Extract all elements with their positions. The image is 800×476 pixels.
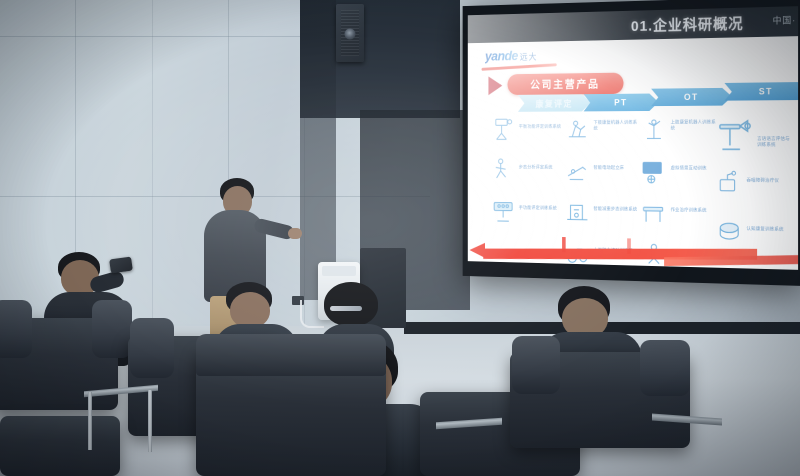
wall-speaker-icon bbox=[336, 4, 364, 62]
upper-limb-robot-icon bbox=[640, 115, 668, 144]
hand-function-icon bbox=[490, 196, 516, 225]
product-caption: 手功能评定训练系统 bbox=[519, 205, 562, 211]
projection-screen: 01.企业科研概况 中国· yande远大 公司主营产品 康复评定 bbox=[463, 0, 800, 286]
product-caption: 言语语言评估与训练系统 bbox=[757, 136, 794, 148]
product-caption: 认知康复训练系统 bbox=[746, 226, 794, 233]
brand-underline bbox=[481, 63, 556, 71]
product-item: 平衡功能评定训练系统 bbox=[488, 115, 562, 147]
ribbon-tick bbox=[627, 238, 631, 254]
brand-chinese-name: 远大 bbox=[520, 52, 538, 62]
category-chevron-assessment: 康复评定 bbox=[518, 94, 591, 112]
standing-bed-icon bbox=[564, 156, 591, 185]
category-chevron-row: 康复评定 PT OT ST bbox=[487, 92, 791, 112]
table-leg bbox=[148, 390, 152, 452]
conference-room-photo: 01.企业科研概况 中国· yande远大 公司主营产品 康复评定 bbox=[0, 0, 800, 476]
product-caption: 虚拟情景互动训练 bbox=[671, 165, 717, 171]
sofa-arm bbox=[640, 340, 690, 396]
swallow-device-icon bbox=[715, 168, 744, 198]
speech-station-icon bbox=[715, 114, 755, 156]
slide-banner-label: 公司主营产品 bbox=[530, 76, 600, 92]
wall-seam-horizontal bbox=[0, 36, 300, 37]
attendee-hair bbox=[324, 282, 378, 326]
sofa-arm bbox=[0, 300, 32, 358]
product-column-st: 言语语言评估与训练系统 吞咽障碍治疗仪 bbox=[713, 114, 794, 261]
product-caption: 下肢康复机器人训练系统 bbox=[594, 120, 639, 132]
product-caption: 平衡功能评定训练系统 bbox=[519, 124, 562, 130]
gait-trainer-icon bbox=[564, 197, 591, 226]
sofa-back bbox=[196, 334, 386, 376]
air-purifier-vent bbox=[322, 266, 356, 276]
sofa-arm bbox=[130, 318, 174, 378]
slide-title: 01.企业科研概况 bbox=[631, 13, 744, 36]
product-item: 手功能评定训练系统 bbox=[488, 196, 562, 229]
attendee-head bbox=[230, 292, 270, 328]
ot-table-icon bbox=[640, 198, 668, 228]
product-item: 作业治疗训练系统 bbox=[638, 198, 717, 232]
product-item: 上肢康复机器人训练系统 bbox=[638, 114, 717, 147]
table-leg bbox=[88, 392, 92, 450]
product-item: 言语语言评估与训练系统 bbox=[713, 114, 794, 160]
slide-corner-text: 中国· bbox=[773, 13, 796, 27]
category-label: OT bbox=[684, 92, 699, 102]
banner-arrow-icon bbox=[488, 76, 502, 95]
product-caption: 吞咽障碍治疗仪 bbox=[746, 178, 794, 185]
category-label: 康复评定 bbox=[535, 97, 572, 110]
product-item: 下肢康复机器人训练系统 bbox=[562, 115, 638, 148]
product-caption: 作业治疗训练系统 bbox=[671, 207, 717, 214]
assessment-device-icon bbox=[490, 116, 516, 144]
brand-wordmark: yande bbox=[485, 48, 518, 64]
smartphone[interactable] bbox=[109, 257, 133, 274]
hair-clip-icon bbox=[330, 306, 362, 311]
category-label: ST bbox=[759, 86, 773, 96]
slide-body: yande远大 公司主营产品 康复评定 PT bbox=[468, 36, 798, 270]
sofa-arm bbox=[92, 300, 132, 358]
product-item: 吞咽障碍治疗仪 bbox=[713, 168, 794, 208]
ribbon-bar-secondary bbox=[664, 255, 798, 266]
product-column-assessment: 平衡功能评定训练系统 步态分析评定系统 bbox=[488, 115, 562, 238]
sofa-arm bbox=[512, 336, 560, 394]
category-chevron-ot: OT bbox=[651, 88, 732, 106]
product-caption: 上肢康复机器人训练系统 bbox=[671, 119, 717, 131]
product-caption: 步态分析评定系统 bbox=[519, 165, 562, 171]
presenter-hand bbox=[288, 228, 302, 239]
product-item: 智能电动起立床 bbox=[562, 156, 638, 189]
brand-logo: yande远大 bbox=[485, 47, 537, 65]
product-item: 虚拟情景互动训练 bbox=[638, 156, 717, 190]
sofa-foreground-left bbox=[0, 416, 120, 476]
product-item: 智能减重步态训练系统 bbox=[562, 197, 638, 231]
product-caption: 智能电动起立床 bbox=[594, 165, 639, 171]
lower-limb-robot-icon bbox=[564, 115, 591, 144]
screen-surface: 01.企业科研概况 中国· yande远大 公司主营产品 康复评定 bbox=[468, 6, 798, 270]
category-chevron-st: ST bbox=[724, 82, 798, 101]
ribbon-tick bbox=[562, 237, 566, 252]
product-item: 步态分析评定系统 bbox=[488, 156, 562, 189]
slide-banner: 公司主营产品 bbox=[507, 73, 623, 95]
speaker-cone bbox=[345, 29, 356, 40]
ceiling-soffit-edge bbox=[300, 0, 336, 300]
category-chevron-pt: PT bbox=[584, 93, 659, 111]
category-label: PT bbox=[614, 98, 627, 108]
product-caption: 智能减重步态训练系统 bbox=[594, 206, 639, 213]
gait-analysis-icon bbox=[490, 156, 516, 184]
vr-training-icon bbox=[640, 156, 668, 185]
cognitive-icon bbox=[715, 217, 744, 247]
